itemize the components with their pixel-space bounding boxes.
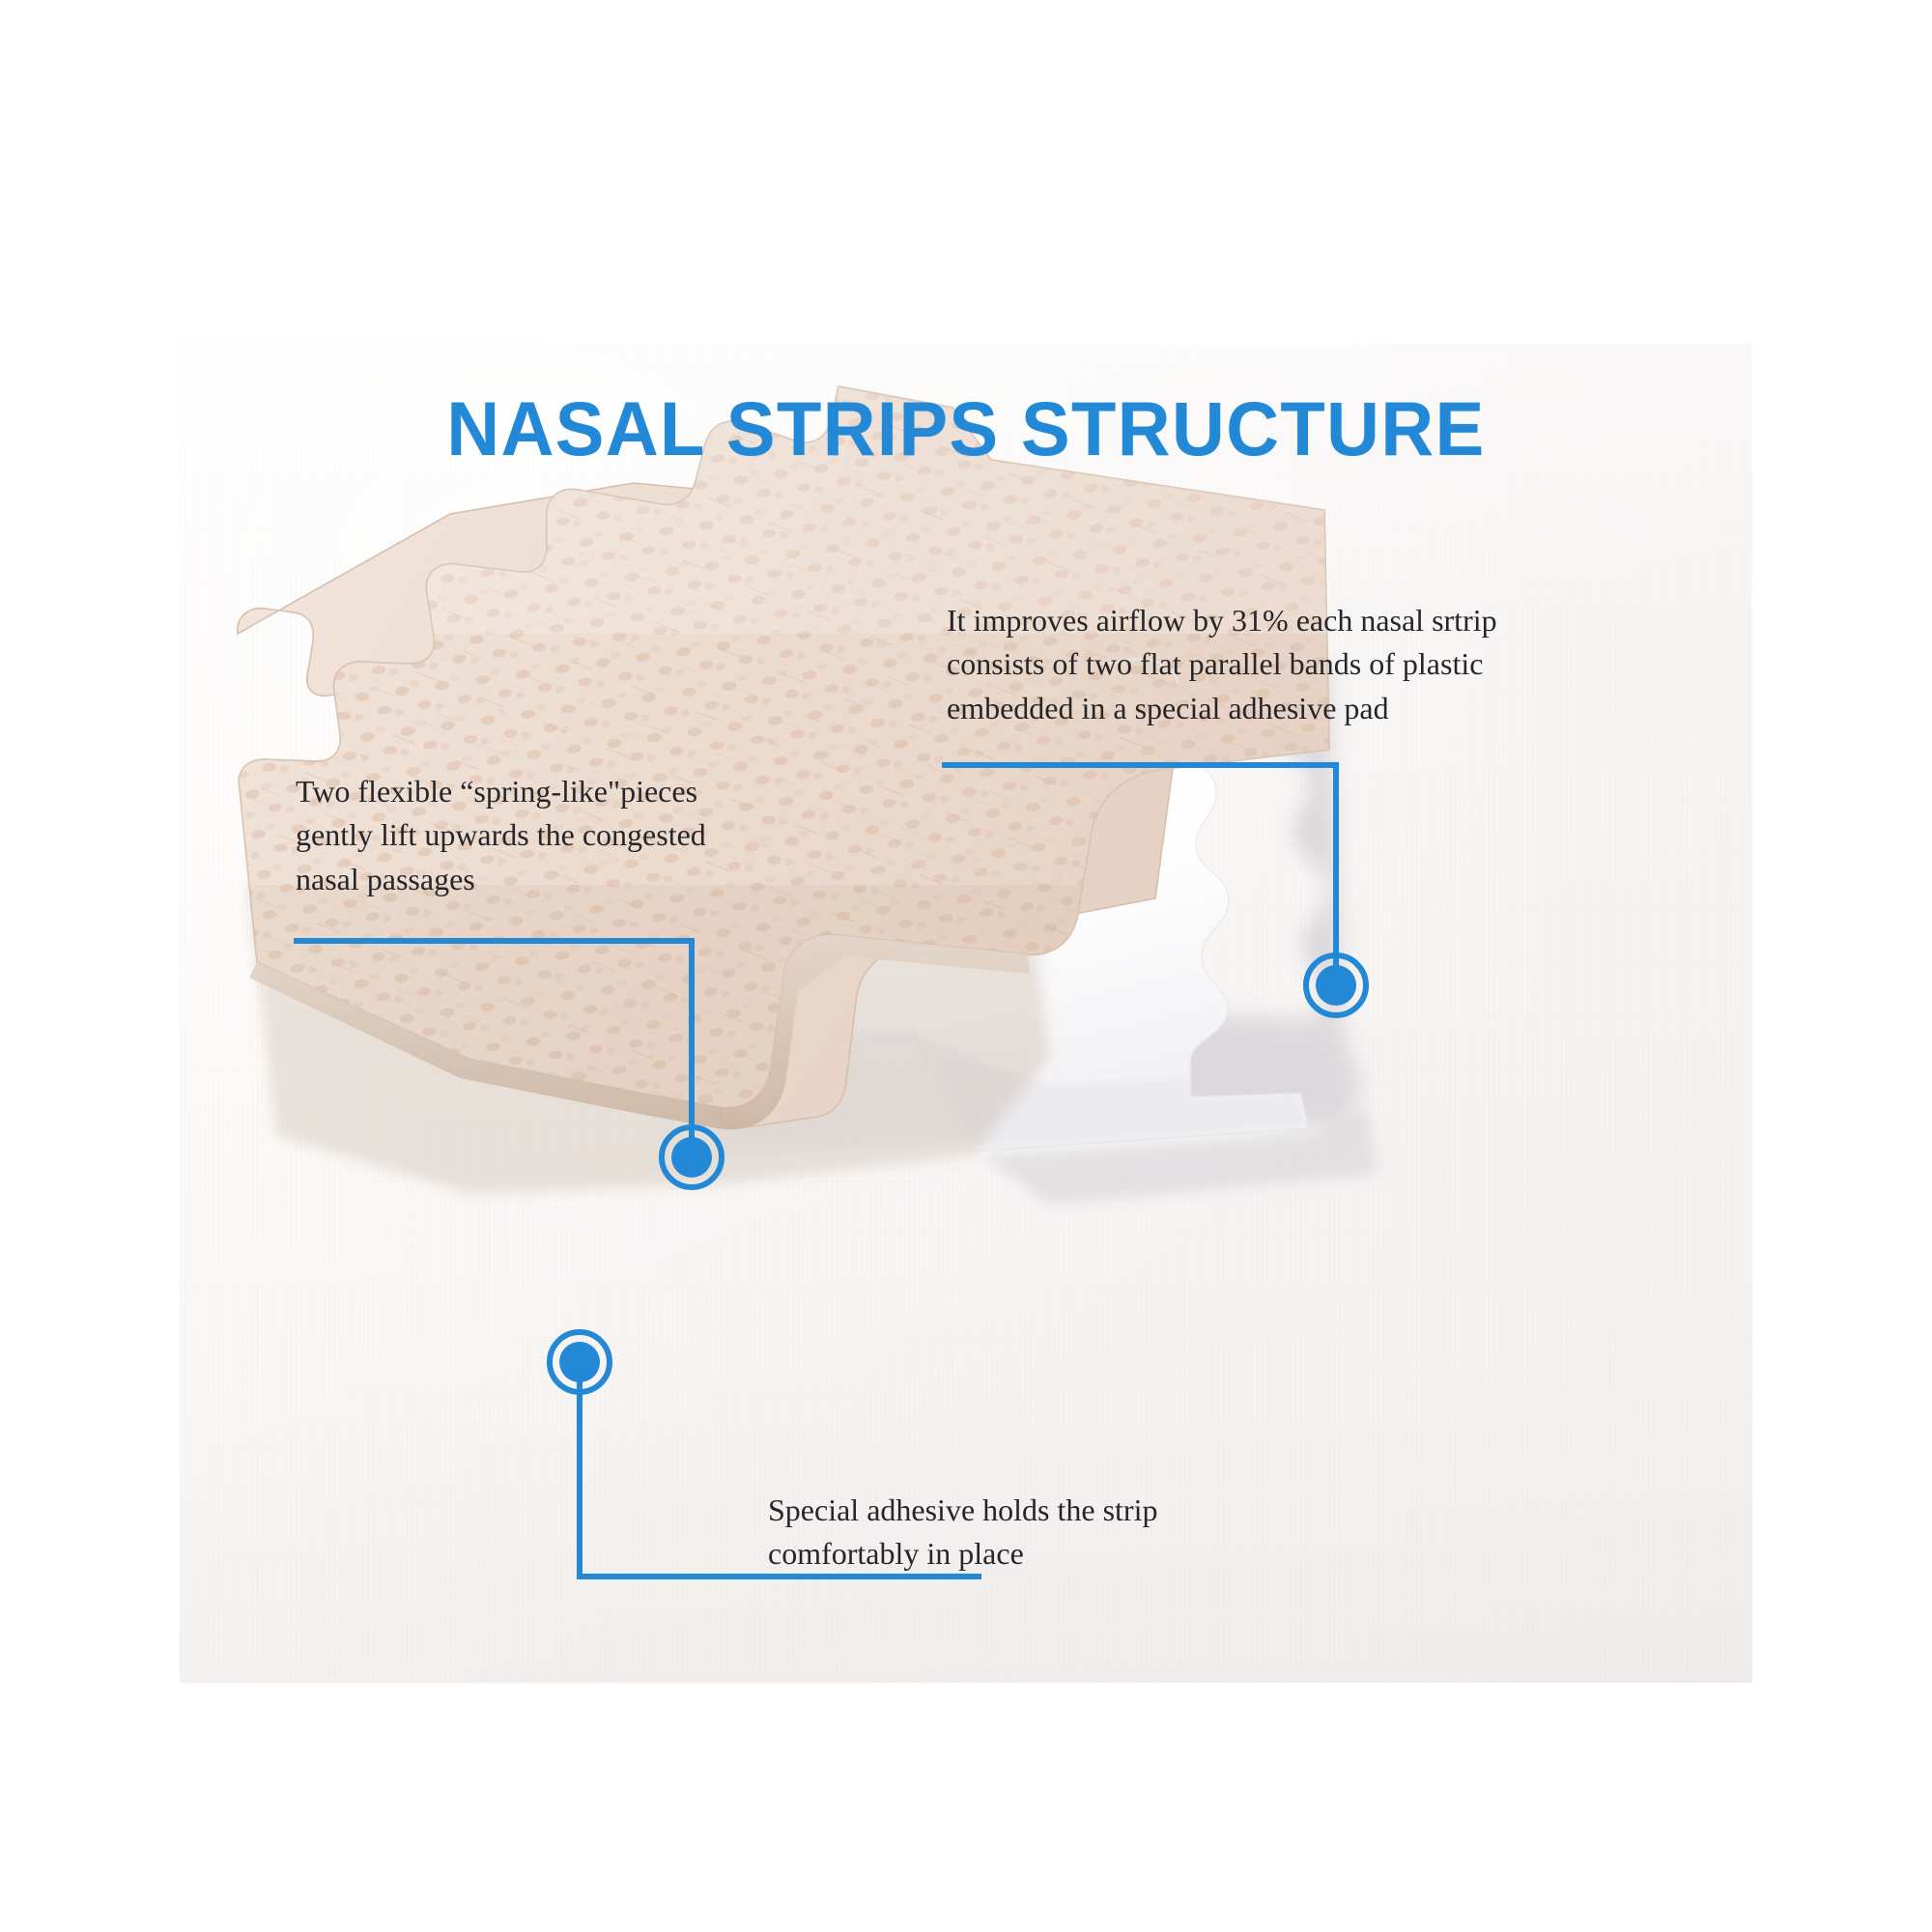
page-title: NASAL STRIPS STRUCTURE [39,384,1893,473]
annotation-airflow-text: It improves airflow by 31% each nasal sr… [947,599,1681,730]
screenshot-canvas: NASAL STRIPS STRUCTURE It improves airfl… [0,0,1932,1932]
nasal-strip-photograph [180,344,1752,1683]
annotation-adhesive-text: Special adhesive holds the strip comfort… [768,1489,1367,1577]
annotation-spring-like-text: Two flexible “spring-like"pieces gently … [296,770,875,901]
